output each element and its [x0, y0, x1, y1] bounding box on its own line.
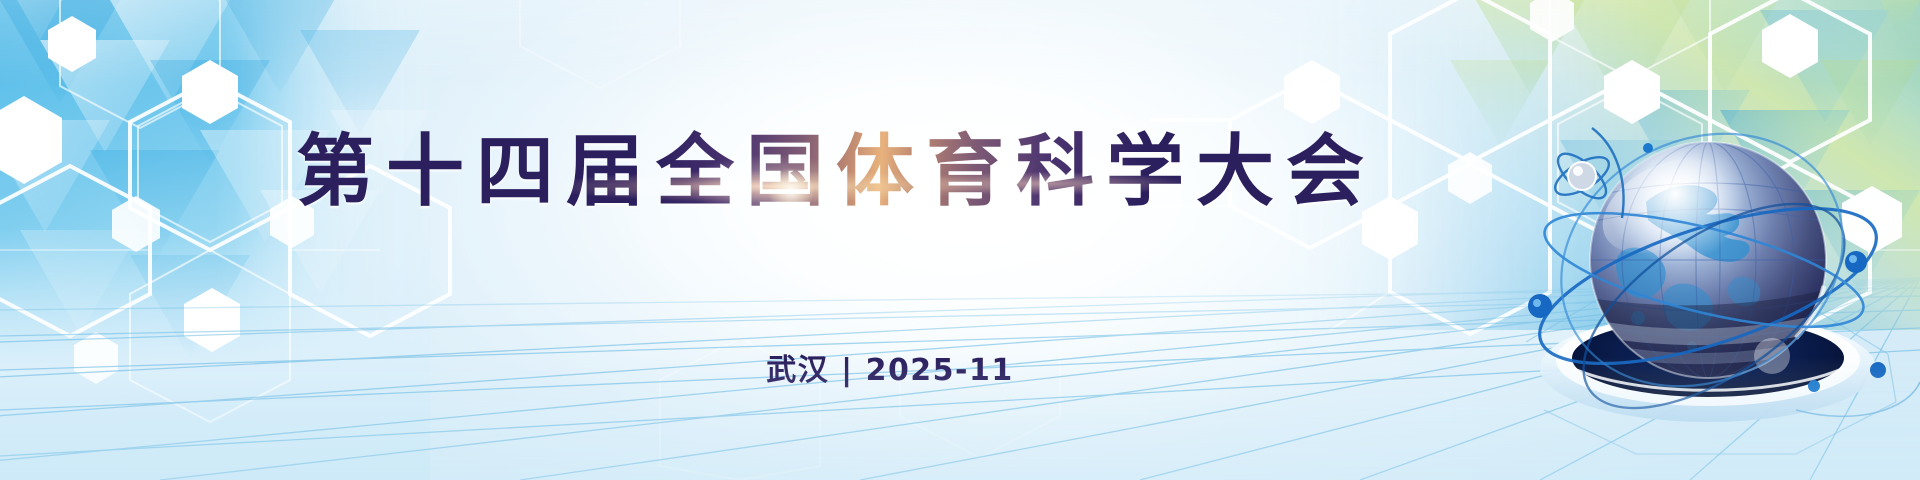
globe-graphic: [1496, 110, 1920, 480]
event-location-date: 武汉 | 2025-11: [766, 345, 1014, 389]
atom-nucleus-icon: [1568, 162, 1596, 190]
atom-nucleus-highlight-icon: [1573, 166, 1583, 176]
lens-flare-icon: [560, 150, 1180, 220]
banner-subtitle-wrap: 武汉 | 2025-11: [560, 344, 1220, 390]
conference-banner: .hexline{fill:none;stroke:#ffffff;stroke…: [0, 0, 1920, 480]
lens-flare-dot-icon: [768, 168, 814, 214]
